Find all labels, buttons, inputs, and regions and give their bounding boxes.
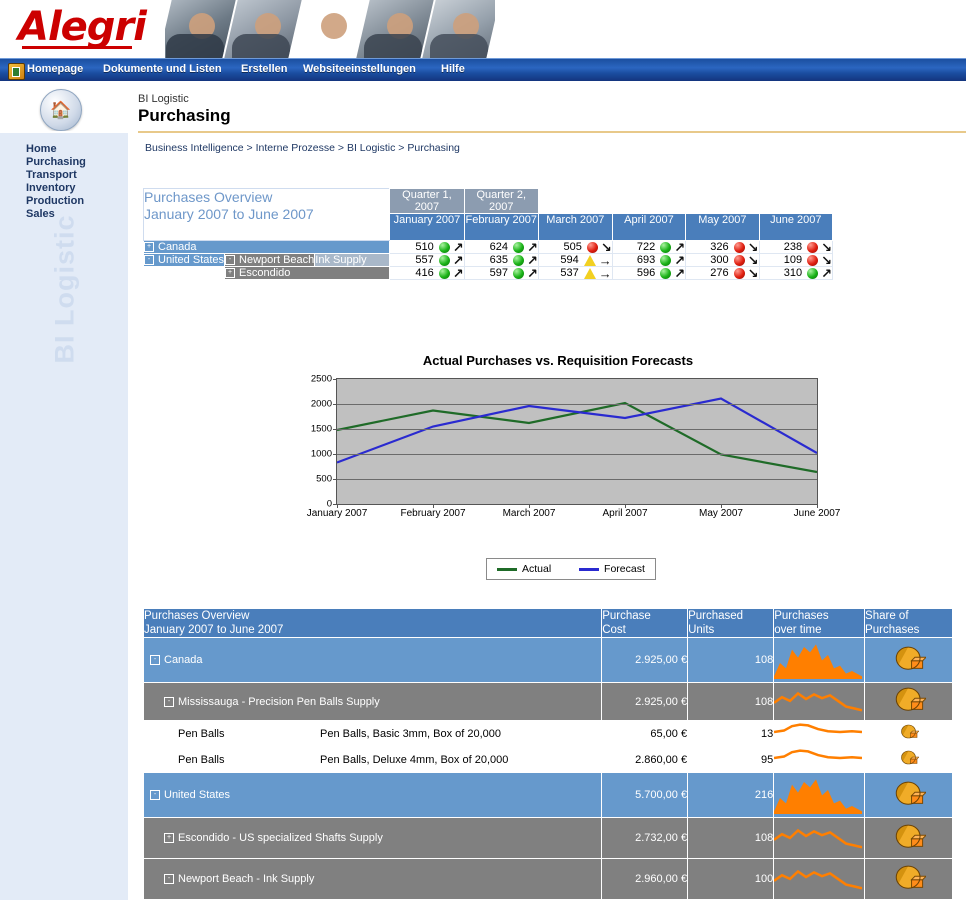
nav-item-erstellen[interactable]: Erstellen xyxy=(241,63,287,75)
scorecard-value-cell: 557↗ xyxy=(390,254,464,267)
status-indicator-red xyxy=(734,242,745,253)
detail-row-name[interactable]: +Escondido - US specialized Shafts Suppl… xyxy=(144,818,602,859)
detail-title-line1: Purchases Overview xyxy=(144,609,601,623)
scorecard-kpi: ↘ xyxy=(807,241,832,253)
pie-chart-icon xyxy=(892,777,926,811)
detail-row-sparkline-cell xyxy=(774,683,865,721)
detail-col-share-l1: Share of xyxy=(865,609,952,623)
detail-row-pie-cell xyxy=(865,638,953,683)
scorecard-value-cell: 624↗ xyxy=(464,241,538,254)
table-row[interactable]: +Escondido - US specialized Shafts Suppl… xyxy=(144,818,953,859)
row-expander-toggle[interactable]: - xyxy=(164,697,174,707)
chart-y-tick-label: 500 xyxy=(316,474,332,485)
pie-chart-icon xyxy=(899,748,919,768)
chart-y-tick-mark xyxy=(333,454,337,455)
scorecard-kpi: ↗ xyxy=(660,241,685,253)
scorecard-value-cell: 722↗ xyxy=(612,241,685,254)
table-row[interactable]: -United States5.700,00 €216 xyxy=(144,773,953,818)
brand-logo: Alegri xyxy=(18,4,146,50)
trend-arrow-down: ↘ xyxy=(748,268,759,279)
scorecard-value: 416 xyxy=(415,267,433,279)
table-row[interactable]: Pen BallsPen Balls, Basic 3mm, Box of 20… xyxy=(144,721,953,747)
scorecard-value-cell: 537→ xyxy=(538,267,612,280)
scorecard-kpi: ↗ xyxy=(439,254,464,266)
scorecard-kpi: ↗ xyxy=(660,267,685,279)
detail-title-cell: Purchases Overview January 2007 to June … xyxy=(144,609,602,638)
sparkline-area-chart xyxy=(774,639,862,679)
status-indicator-red xyxy=(734,255,745,266)
scorecard-title-line1: Purchases Overview xyxy=(144,189,389,206)
detail-row-sparkline-cell xyxy=(774,638,865,683)
banner-photo-4 xyxy=(356,0,433,58)
detail-row-name-text: Newport Beach - Ink Supply xyxy=(178,873,314,885)
sidebar-item-sales[interactable]: Sales xyxy=(26,208,55,220)
scorecard-value: 635 xyxy=(490,254,508,266)
status-indicator-green xyxy=(660,268,671,279)
detail-row-purchased-units: 216 xyxy=(688,773,774,818)
status-indicator-green xyxy=(807,268,818,279)
chart-y-tick-label: 1000 xyxy=(311,449,332,460)
trend-arrow-flat: → xyxy=(599,255,612,266)
scorecard-month-march: March 2007 xyxy=(538,214,612,241)
scorecard-body: +Canada510↗624↗505↘722↗326↘238↘-United S… xyxy=(144,241,833,280)
scorecard-kpi: ↘ xyxy=(807,254,832,266)
site-banner: Alegri xyxy=(0,0,966,58)
sidebar-item-transport[interactable]: Transport xyxy=(26,169,77,181)
detail-row-purchased-units: 108 xyxy=(688,638,774,683)
scorecard-value: 597 xyxy=(490,267,508,279)
detail-row-name-text: Canada xyxy=(164,654,203,666)
scorecard-kpi: ↗ xyxy=(660,254,685,266)
home-icon: 🏠 xyxy=(50,102,71,119)
status-indicator-red xyxy=(734,268,745,279)
scorecard-title-line2: January 2007 to June 2007 xyxy=(144,206,389,223)
scorecard-title-cell: Purchases Overview January 2007 to June … xyxy=(144,189,390,241)
detail-row-purchase-cost: 2.732,00 € xyxy=(602,818,688,859)
scorecard-month-june: June 2007 xyxy=(759,214,832,241)
detail-row-sparkline-cell xyxy=(774,747,865,773)
chart-series-forecast xyxy=(337,399,817,463)
scorecard-kpi: ↘ xyxy=(734,241,759,253)
top-navigation-bar: Homepage Dokumente und Listen Erstellen … xyxy=(0,58,966,82)
detail-row-pie-cell xyxy=(865,683,953,721)
status-indicator-yellow xyxy=(584,255,596,266)
scorecard-value-cell: 693↗ xyxy=(612,254,685,267)
detail-col-purchases-over-time: Purchases over time xyxy=(774,609,865,638)
purchases-scorecard-table: Purchases Overview January 2007 to June … xyxy=(143,188,833,280)
sparkline-line-chart xyxy=(774,747,862,769)
scorecard-row-label-text: Canada xyxy=(158,241,197,253)
status-indicator-green xyxy=(439,268,450,279)
scorecard-kpi: ↗ xyxy=(513,241,538,253)
scorecard-quarter-row: Purchases Overview January 2007 to June … xyxy=(144,189,833,214)
table-row[interactable]: Pen BallsPen Balls, Deluxe 4mm, Box of 2… xyxy=(144,747,953,773)
detail-col-purchased-units-l2: Units xyxy=(688,623,773,637)
row-expander-toggle[interactable]: - xyxy=(164,874,174,884)
detail-row-purchase-cost: 65,00 € xyxy=(602,721,688,747)
row-expander-toggle[interactable]: - xyxy=(150,655,160,665)
chart-gridline xyxy=(337,404,817,405)
chart-legend: Actual Forecast xyxy=(486,558,656,580)
scorecard-value-cell: 594→ xyxy=(538,254,612,267)
legend-label-forecast: Forecast xyxy=(604,563,645,575)
pie-chart-icon xyxy=(892,861,926,895)
trend-arrow-up: ↗ xyxy=(453,242,464,253)
detail-row-purchase-cost: 2.925,00 € xyxy=(602,638,688,683)
scorecard-value-cell: 326↘ xyxy=(686,241,759,254)
detail-title-line2: January 2007 to June 2007 xyxy=(144,623,601,637)
detail-row-description: Pen Balls, Basic 3mm, Box of 20,000 xyxy=(320,721,602,747)
chart-x-tick-label: April 2007 xyxy=(602,508,647,519)
detail-col-share-l2: Purchases xyxy=(865,623,952,637)
scorecard-value-cell: 310↗ xyxy=(759,267,832,280)
scorecard-header: Purchases Overview January 2007 to June … xyxy=(144,189,833,241)
scorecard-value: 109 xyxy=(784,254,802,266)
scorecard-month-april: April 2007 xyxy=(612,214,685,241)
trend-arrow-up: ↗ xyxy=(674,268,685,279)
sparkline-line-chart xyxy=(774,686,862,714)
sparkline-line-chart xyxy=(774,864,862,892)
chart-x-tick-label: March 2007 xyxy=(503,508,556,519)
scorecard-row-label[interactable]: +Escondido xyxy=(225,267,390,280)
page-title: Purchasing xyxy=(138,106,231,126)
scorecard-value-cell: 238↘ xyxy=(759,241,832,254)
detail-col-purchased-units: Purchased Units xyxy=(688,609,774,638)
legend-swatch-actual xyxy=(497,568,517,571)
detail-row-name[interactable]: -United States xyxy=(144,773,602,818)
detail-row-name[interactable]: -Canada xyxy=(144,638,602,683)
scorecard-row-label-text: Escondido xyxy=(239,267,290,279)
trend-arrow-up: ↗ xyxy=(527,255,538,266)
brand-logo-underline xyxy=(22,46,132,49)
pie-chart-icon xyxy=(892,820,926,854)
chart-x-tick-mark xyxy=(433,504,434,508)
chart-y-tick-label: 2000 xyxy=(311,399,332,410)
status-indicator-red xyxy=(807,255,818,266)
scorecard-row-label[interactable]: +Canada xyxy=(144,241,390,254)
sparkline-area-chart xyxy=(774,774,862,814)
table-row[interactable]: -Canada2.925,00 €108 xyxy=(144,638,953,683)
scorecard-kpi: ↗ xyxy=(513,267,538,279)
scorecard-kpi: ↗ xyxy=(439,241,464,253)
status-indicator-green xyxy=(439,242,450,253)
detail-col-purchase-cost: Purchase Cost xyxy=(602,609,688,638)
detail-col-purchased-units-l1: Purchased xyxy=(688,609,773,623)
detail-row-sparkline-cell xyxy=(774,859,865,900)
detail-row-name[interactable]: -Mississauga - Precision Pen Balls Suppl… xyxy=(144,683,602,721)
chart-y-tick-mark xyxy=(333,404,337,405)
chart-gridline xyxy=(337,429,817,430)
detail-row-sparkline-cell xyxy=(774,818,865,859)
status-indicator-green xyxy=(439,255,450,266)
trend-arrow-up: ↗ xyxy=(527,242,538,253)
scorecard-row-label[interactable]: Ink Supply xyxy=(315,254,390,267)
banner-photo-strip xyxy=(165,0,495,58)
trend-arrow-up: ↗ xyxy=(674,242,685,253)
scorecard-month-january: January 2007 xyxy=(390,214,464,241)
pie-chart-icon xyxy=(892,683,926,717)
scorecard-value-cell: 597↗ xyxy=(464,267,538,280)
detail-row-purchase-cost: 5.700,00 € xyxy=(602,773,688,818)
sidebar-item-purchasing[interactable]: Purchasing xyxy=(26,156,86,168)
nav-item-dokumente-und-listen[interactable]: Dokumente und Listen xyxy=(103,63,222,75)
scorecard-kpi: ↗ xyxy=(807,267,832,279)
status-indicator-green xyxy=(660,242,671,253)
detail-col-purchase-cost-l2: Cost xyxy=(602,623,687,637)
banner-photo-2 xyxy=(224,0,301,58)
scorecard-value-cell: 635↗ xyxy=(464,254,538,267)
detail-col-over-time-l2: over time xyxy=(774,623,864,637)
banner-photo-3 xyxy=(290,0,367,58)
scorecard-value: 596 xyxy=(637,267,655,279)
scorecard-value-cell: 510↗ xyxy=(390,241,464,254)
trend-arrow-down: ↘ xyxy=(821,242,832,253)
scorecard-value: 722 xyxy=(637,241,655,253)
detail-row-name-text: Mississauga - Precision Pen Balls Supply xyxy=(178,696,380,708)
trend-arrow-up: ↗ xyxy=(453,268,464,279)
scorecard-value-cell: 276↘ xyxy=(686,267,759,280)
trend-arrow-up: ↗ xyxy=(527,268,538,279)
detail-col-purchase-cost-l1: Purchase xyxy=(602,609,687,623)
detail-row-purchased-units: 108 xyxy=(688,818,774,859)
breadcrumb[interactable]: Business Intelligence > Interne Prozesse… xyxy=(145,142,460,154)
scorecard-row-spacer xyxy=(144,267,225,280)
detail-row-pie-cell xyxy=(865,818,953,859)
scorecard-value-cell: 416↗ xyxy=(390,267,464,280)
status-indicator-green xyxy=(513,255,524,266)
trend-arrow-down: ↘ xyxy=(748,242,759,253)
trend-arrow-up: ↗ xyxy=(453,255,464,266)
scorecard-row-label[interactable]: -United States xyxy=(144,254,225,267)
status-indicator-red xyxy=(807,242,818,253)
detail-row-sparkline-cell xyxy=(774,721,865,747)
scorecard-kpi: ↘ xyxy=(734,267,759,279)
scorecard-kpi: ↘ xyxy=(587,241,612,253)
scorecard-value: 276 xyxy=(710,267,728,279)
row-expander-toggle[interactable]: - xyxy=(150,790,160,800)
table-row[interactable]: -Newport Beach - Ink Supply2.960,00 €100 xyxy=(144,859,953,900)
nav-item-websiteeinstellungen[interactable]: Websiteeinstellungen xyxy=(303,63,416,75)
banner-photo-5 xyxy=(422,0,495,58)
chart-x-tick-mark xyxy=(337,504,338,508)
chart-x-tick-label: January 2007 xyxy=(307,508,368,519)
trend-arrow-up: ↗ xyxy=(674,255,685,266)
chart-gridline xyxy=(337,454,817,455)
scorecard-row[interactable]: +Escondido416↗597↗537→596↗276↘310↗ xyxy=(144,267,833,280)
detail-header: Purchases Overview January 2007 to June … xyxy=(144,609,953,638)
detail-col-over-time-l1: Purchases xyxy=(774,609,864,623)
site-logo-icon[interactable] xyxy=(8,63,25,80)
status-indicator-green xyxy=(513,268,524,279)
status-indicator-green xyxy=(513,242,524,253)
detail-row-name[interactable]: -Newport Beach - Ink Supply xyxy=(144,859,602,900)
pie-chart-icon xyxy=(892,642,926,676)
chart-x-tick-mark xyxy=(721,504,722,508)
home-button[interactable]: 🏠 xyxy=(40,89,82,131)
detail-row-name: Pen Balls xyxy=(144,721,320,747)
sidebar-item-inventory[interactable]: Inventory xyxy=(26,182,76,194)
nav-item-homepage[interactable]: Homepage xyxy=(27,63,83,75)
row-expander-toggle[interactable]: - xyxy=(144,255,154,265)
detail-row-pie-cell xyxy=(865,721,953,747)
scorecard-value: 300 xyxy=(710,254,728,266)
nav-item-hilfe[interactable]: Hilfe xyxy=(441,63,465,75)
sidebar-item-home[interactable]: Home xyxy=(26,143,57,155)
chart-y-tick-mark xyxy=(333,429,337,430)
chart-x-tick-mark xyxy=(625,504,626,508)
main-content: Business Intelligence > Interne Prozesse… xyxy=(128,133,966,900)
chart-y-tick-label: 1500 xyxy=(311,424,332,435)
scorecard-value: 537 xyxy=(560,267,578,279)
scorecard-value: 326 xyxy=(710,241,728,253)
trend-arrow-flat: → xyxy=(599,268,612,279)
trend-arrow-down: ↘ xyxy=(601,242,612,253)
scorecard-row-label-text: Newport Beach xyxy=(239,254,314,266)
trend-arrow-up: ↗ xyxy=(821,268,832,279)
scorecard-kpi: → xyxy=(584,254,612,266)
scorecard-value-cell: 109↘ xyxy=(759,254,832,267)
chart-x-tick-label: June 2007 xyxy=(794,508,841,519)
detail-row-name-text: Pen Balls xyxy=(178,728,224,740)
detail-row-name-text: United States xyxy=(164,789,230,801)
legend-label-actual: Actual xyxy=(522,563,551,575)
detail-row-description: Pen Balls, Deluxe 4mm, Box of 20,000 xyxy=(320,747,602,773)
detail-row-name-text: Escondido - US specialized Shafts Supply xyxy=(178,832,383,844)
scorecard-kpi: → xyxy=(584,267,612,279)
scorecard-value-cell: 596↗ xyxy=(612,267,685,280)
row-expander-toggle[interactable]: + xyxy=(144,242,154,252)
chart-gridline xyxy=(337,479,817,480)
detail-row-purchase-cost: 2.860,00 € xyxy=(602,747,688,773)
chart-series-svg xyxy=(337,379,817,504)
scorecard-row-label-text: United States xyxy=(158,254,224,266)
detail-row-purchased-units: 95 xyxy=(688,747,774,773)
scorecard-value: 238 xyxy=(784,241,802,253)
banner-photo-1 xyxy=(165,0,236,58)
pie-chart-icon xyxy=(899,722,919,742)
purchases-detail-table: Purchases Overview January 2007 to June … xyxy=(143,608,953,900)
scorecard-month-may: May 2007 xyxy=(686,214,759,241)
detail-col-share-of-purchases: Share of Purchases xyxy=(865,609,953,638)
chart-y-tick-mark xyxy=(333,479,337,480)
sparkline-line-chart xyxy=(774,823,862,851)
scorecard-value: 594 xyxy=(560,254,578,266)
scorecard-row[interactable]: -United States-Newport BeachInk Supply55… xyxy=(144,254,833,267)
detail-row-name-text: Pen Balls xyxy=(178,754,224,766)
sparkline-line-chart xyxy=(774,721,862,743)
detail-row-pie-cell xyxy=(865,747,953,773)
scorecard-quarter-2: Quarter 2, 2007 xyxy=(464,189,538,214)
row-expander-toggle[interactable]: + xyxy=(225,268,235,278)
chart-x-tick-label: February 2007 xyxy=(400,508,465,519)
scorecard-value: 510 xyxy=(415,241,433,253)
scorecard-kpi: ↗ xyxy=(439,267,464,279)
scorecard-value: 505 xyxy=(563,241,581,253)
detail-row-purchase-cost: 2.925,00 € xyxy=(602,683,688,721)
purchases-line-chart: Actual Purchases vs. Requisition Forecas… xyxy=(278,353,838,583)
chart-x-tick-mark xyxy=(817,504,818,508)
scorecard-value-cell: 505↘ xyxy=(538,241,612,254)
scorecard-value: 693 xyxy=(637,254,655,266)
scorecard-row[interactable]: +Canada510↗624↗505↘722↗326↘238↘ xyxy=(144,241,833,254)
status-indicator-yellow xyxy=(584,268,596,279)
scorecard-quarter-1: Quarter 1, 2007 xyxy=(390,189,464,214)
detail-row-purchased-units: 13 xyxy=(688,721,774,747)
detail-row-pie-cell xyxy=(865,773,953,818)
detail-row-sparkline-cell xyxy=(774,773,865,818)
sidebar-item-production[interactable]: Production xyxy=(26,195,84,207)
table-row[interactable]: -Mississauga - Precision Pen Balls Suppl… xyxy=(144,683,953,721)
scorecard-row-label-text: Ink Supply xyxy=(315,254,366,266)
scorecard-kpi: ↗ xyxy=(513,254,538,266)
detail-row-name: Pen Balls xyxy=(144,747,320,773)
scorecard-value: 624 xyxy=(490,241,508,253)
row-expander-toggle[interactable]: + xyxy=(164,833,174,843)
chart-plot-area: 05001000150020002500January 2007February… xyxy=(336,378,818,505)
row-expander-toggle[interactable]: - xyxy=(225,255,235,265)
chart-title: Actual Purchases vs. Requisition Forecas… xyxy=(278,353,838,368)
scorecard-value: 557 xyxy=(415,254,433,266)
chart-y-tick-label: 2500 xyxy=(311,374,332,385)
detail-row-purchased-units: 100 xyxy=(688,859,774,900)
left-sidebar: BI Logistic Home Purchasing Transport In… xyxy=(0,133,128,900)
scorecard-kpi: ↘ xyxy=(734,254,759,266)
site-subtitle: BI Logistic xyxy=(138,93,189,105)
trend-arrow-down: ↘ xyxy=(748,255,759,266)
chart-y-tick-mark xyxy=(333,379,337,380)
chart-x-tick-label: May 2007 xyxy=(699,508,743,519)
detail-row-purchased-units: 108 xyxy=(688,683,774,721)
scorecard-value: 310 xyxy=(784,267,802,279)
status-indicator-red xyxy=(587,242,598,253)
scorecard-row-label[interactable]: -Newport Beach xyxy=(225,254,315,267)
chart-x-tick-mark xyxy=(529,504,530,508)
detail-body: -Canada2.925,00 €108-Mississauga - Preci… xyxy=(144,638,953,900)
detail-row-purchase-cost: 2.960,00 € xyxy=(602,859,688,900)
detail-row-pie-cell xyxy=(865,859,953,900)
trend-arrow-down: ↘ xyxy=(821,255,832,266)
scorecard-month-february: February 2007 xyxy=(464,214,538,241)
detail-header-row: Purchases Overview January 2007 to June … xyxy=(144,609,953,638)
legend-swatch-forecast xyxy=(579,568,599,571)
scorecard-value-cell: 300↘ xyxy=(686,254,759,267)
status-indicator-green xyxy=(660,255,671,266)
